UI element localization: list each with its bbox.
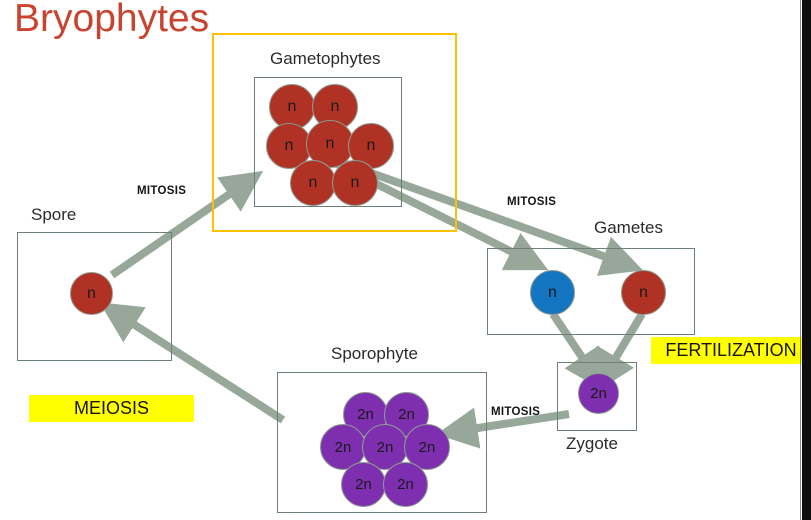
- label-meiosis: MEIOSIS: [29, 395, 194, 422]
- cell-label: n: [309, 175, 318, 191]
- cell-label: n: [639, 285, 648, 301]
- label-mitosis-zygote-to-sporophyte: MITOSIS: [491, 406, 540, 418]
- cell-sporophyte-6: 2n: [341, 462, 386, 507]
- cell-label: 2n: [355, 477, 372, 492]
- cell-label: 2n: [419, 440, 436, 455]
- spore-caption: Spore: [31, 205, 76, 225]
- slide-edge-right: [802, 0, 811, 520]
- cell-gamete-blue: n: [530, 270, 575, 315]
- cell-label: 2n: [335, 440, 352, 455]
- label-mitosis-gametophyte-to-gametes: MITOSIS: [507, 196, 556, 208]
- label-fertilization: FERTILIZATION: [651, 337, 811, 364]
- cell-spore-1: n: [70, 272, 113, 315]
- cell-label: n: [548, 285, 557, 301]
- cell-zygote-1: 2n: [578, 373, 619, 414]
- label-mitosis-spore-to-gametophyte: MITOSIS: [137, 185, 186, 197]
- cell-label: 2n: [590, 386, 607, 401]
- cell-label: n: [351, 175, 360, 191]
- cell-gamete-red: n: [621, 270, 666, 315]
- gametes-caption: Gametes: [594, 218, 663, 238]
- cell-label: n: [288, 99, 297, 115]
- cell-label: n: [367, 138, 376, 154]
- slide-edge-hairline: [800, 0, 801, 520]
- page-title: Bryophytes: [14, 0, 209, 42]
- sporophyte-caption: Sporophyte: [331, 344, 418, 364]
- cell-label: 2n: [397, 477, 414, 492]
- cell-label: 2n: [398, 407, 415, 422]
- zygote-caption: Zygote: [566, 434, 618, 454]
- cell-gametophyte-6: n: [290, 160, 336, 206]
- cell-label: n: [331, 99, 340, 115]
- cell-label: n: [87, 286, 96, 302]
- cell-label: n: [326, 136, 335, 152]
- slide-canvas: Alternation of Generations in Bryophytes…: [0, 0, 811, 520]
- gametophytes-caption: Gametophytes: [270, 49, 381, 69]
- cell-label: n: [285, 138, 294, 154]
- cell-sporophyte-7: 2n: [383, 462, 428, 507]
- cell-label: 2n: [377, 440, 394, 455]
- cell-label: 2n: [357, 407, 374, 422]
- cell-gametophyte-7: n: [332, 160, 378, 206]
